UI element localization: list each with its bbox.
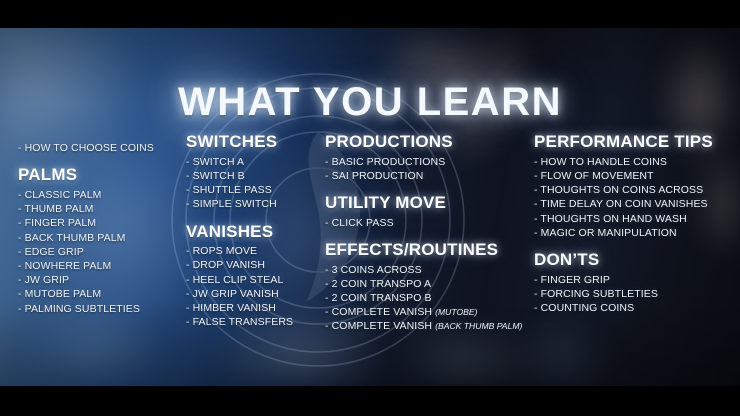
item-list: - CLASSIC PALM- THUMB PALM- FINGER PALM-…: [18, 188, 188, 316]
list-item: - HOW TO CHOOSE COINS: [18, 141, 188, 155]
list-item: - THOUGHTS ON HAND WASH: [534, 212, 734, 226]
list-item: - 3 COINS ACROSS: [325, 263, 530, 277]
list-item: - 2 COIN TRANSPO B: [325, 291, 530, 305]
list-item: - FALSE TRANSFERS: [186, 315, 318, 329]
item-list: - BASIC PRODUCTIONS- SAI PRODUCTION: [325, 155, 530, 183]
column-performance-donts: PERFORMANCE TIPS- HOW TO HANDLE COINS- F…: [534, 133, 734, 315]
list-item: - MAGIC OR MANIPULATION: [534, 226, 734, 240]
list-item: - FINGER PALM: [18, 216, 188, 230]
list-item: - BASIC PRODUCTIONS: [325, 155, 530, 169]
list-item-note: (MUTOBE): [435, 307, 477, 317]
list-item: - EDGE GRIP: [18, 245, 188, 259]
list-item: - SWITCH B: [186, 169, 318, 183]
list-item: - BACK THUMB PALM: [18, 231, 188, 245]
list-item: - SIMPLE SWITCH: [186, 197, 318, 211]
letterbox-bar-bottom: [0, 386, 740, 416]
list-item: - SWITCH A: [186, 155, 318, 169]
list-item: - COMPLETE VANISH (MUTOBE): [325, 305, 530, 319]
section-heading: PRODUCTIONS: [325, 133, 530, 152]
section-heading: PERFORMANCE TIPS: [534, 133, 734, 152]
item-list: - ROPS MOVE- DROP VANISH- HEEL CLIP STEA…: [186, 244, 318, 329]
section-heading: PALMS: [18, 166, 188, 185]
column-productions-effects: PRODUCTIONS- BASIC PRODUCTIONS- SAI PROD…: [325, 133, 530, 334]
section-heading: SWITCHES: [186, 133, 318, 152]
video-frame: WHAT YOU LEARN - HOW TO CHOOSE COINSPALM…: [0, 28, 740, 386]
list-item: - 2 COIN TRANSPO A: [325, 277, 530, 291]
slide-root: WHAT YOU LEARN - HOW TO CHOOSE COINSPALM…: [0, 0, 740, 416]
section-heading: VANISHES: [186, 223, 318, 242]
letterbox-bar-top: [0, 0, 740, 28]
section-heading: DON’TS: [534, 251, 734, 270]
list-item: - PALMING SUBTLETIES: [18, 302, 188, 316]
column-palms: - HOW TO CHOOSE COINSPALMS- CLASSIC PALM…: [18, 141, 188, 316]
list-item: - COMPLETE VANISH (BACK THUMB PALM): [325, 319, 530, 333]
list-item: - ROPS MOVE: [186, 244, 318, 258]
section-heading: UTILITY MOVE: [325, 194, 530, 213]
list-item: - HOW TO HANDLE COINS: [534, 155, 734, 169]
list-item: - CLICK PASS: [325, 216, 530, 230]
list-item-note: (BACK THUMB PALM): [435, 321, 522, 331]
list-item: - HIMBER VANISH: [186, 301, 318, 315]
list-item: - FORCING SUBTLETIES: [534, 287, 734, 301]
page-title: WHAT YOU LEARN: [0, 80, 740, 125]
list-item: - HEEL CLIP STEAL: [186, 273, 318, 287]
list-item: - THOUGHTS ON COINS ACROSS: [534, 183, 734, 197]
list-item: - CLASSIC PALM: [18, 188, 188, 202]
list-item: - MUTOBE PALM: [18, 287, 188, 301]
item-list: - SWITCH A- SWITCH B- SHUTTLE PASS- SIMP…: [186, 155, 318, 212]
column-switches-vanishes: SWITCHES- SWITCH A- SWITCH B- SHUTTLE PA…: [186, 133, 318, 329]
list-item: - FLOW OF MOVEMENT: [534, 169, 734, 183]
list-item: - JW GRIP VANISH: [186, 287, 318, 301]
list-item: - SAI PRODUCTION: [325, 169, 530, 183]
item-list: - HOW TO CHOOSE COINS: [18, 141, 188, 155]
list-item: - COUNTING COINS: [534, 301, 734, 315]
list-item: - JW GRIP: [18, 273, 188, 287]
section-heading: EFFECTS/ROUTINES: [325, 241, 530, 260]
item-list: - FINGER GRIP- FORCING SUBTLETIES- COUNT…: [534, 273, 734, 316]
item-list: - 3 COINS ACROSS- 2 COIN TRANSPO A- 2 CO…: [325, 263, 530, 334]
item-list: - CLICK PASS: [325, 216, 530, 230]
list-item: - SHUTTLE PASS: [186, 183, 318, 197]
list-item: - NOWHERE PALM: [18, 259, 188, 273]
list-item: - DROP VANISH: [186, 258, 318, 272]
spacer: [186, 212, 318, 223]
list-item: - THUMB PALM: [18, 202, 188, 216]
list-item: - TIME DELAY ON COIN VANISHES: [534, 197, 734, 211]
list-item: - FINGER GRIP: [534, 273, 734, 287]
item-list: - HOW TO HANDLE COINS- FLOW OF MOVEMENT-…: [534, 155, 734, 240]
